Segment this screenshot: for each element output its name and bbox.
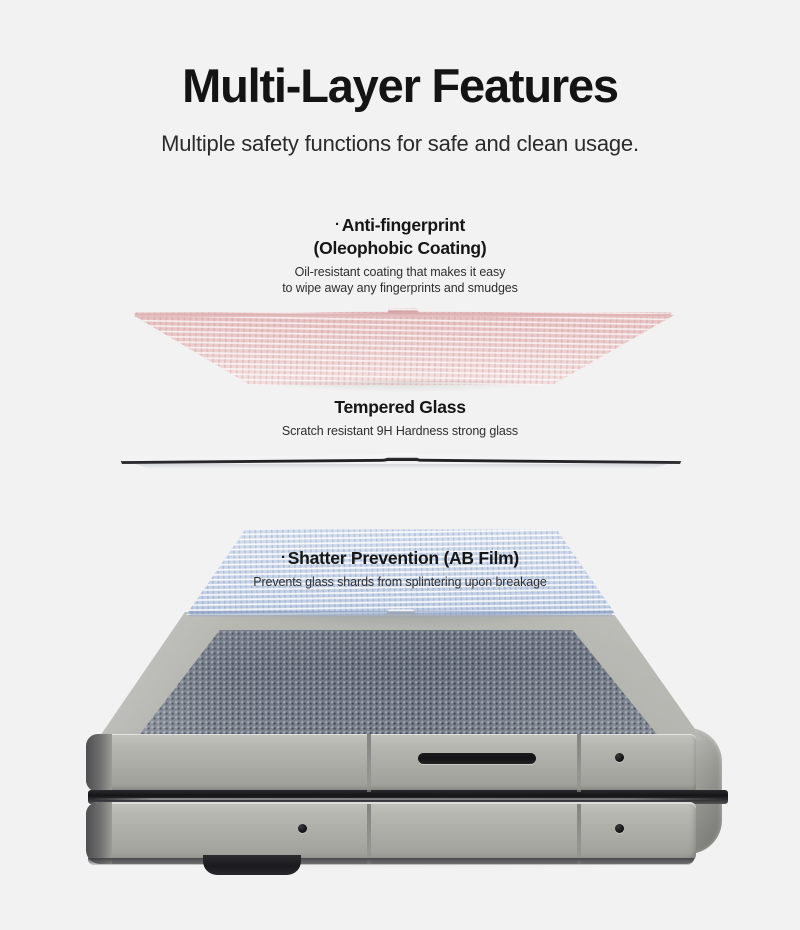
feature-desc-tempered-glass: Scratch resistant 9H Hardness strong gla… <box>0 423 800 439</box>
page-title: Multi-Layer Features <box>0 58 800 113</box>
antenna-line <box>367 804 371 864</box>
feature-title-tempered-glass: Tempered Glass <box>0 396 800 419</box>
infographic-canvas: Multi-Layer Features Multiple safety fun… <box>0 0 800 930</box>
microphone-hole <box>615 753 624 762</box>
phone-frame-upper-left-edge <box>86 734 112 792</box>
microphone-hole <box>298 824 307 833</box>
phone-bottom-nub <box>203 855 301 875</box>
layer-oleophobic-coating <box>130 307 675 385</box>
feature-title-line2: (Oleophobic Coating) <box>0 237 800 260</box>
page-subtitle: Multiple safety functions for safe and c… <box>0 131 800 157</box>
feature-label-oleophobic: ·Anti-fingerprint (Oleophobic Coating) O… <box>0 213 800 296</box>
phone-bottom-edge <box>88 858 694 865</box>
layer-tempered-glass <box>118 448 684 474</box>
bullet-icon: · <box>281 549 288 566</box>
ab-film-shadow <box>212 616 590 628</box>
feature-desc-ab-film: Prevents glass shards from splintering u… <box>0 574 800 590</box>
phone-fold-seam-highlight <box>90 798 726 800</box>
antenna-line <box>367 734 371 792</box>
antenna-line <box>577 804 581 864</box>
phone-frame-lower-left-edge <box>86 802 112 864</box>
oleophobic-shadow <box>261 381 544 392</box>
feature-desc-line1: Oil-resistant coating that makes it easy <box>0 264 800 280</box>
bullet-icon: · <box>335 216 342 233</box>
antenna-line <box>577 734 581 792</box>
phone-frame-lower-half <box>86 802 696 864</box>
feature-title-ab-film: ·Shatter Prevention (AB Film) <box>0 546 800 570</box>
foldable-phone <box>78 612 722 872</box>
phone-frame-upper-half <box>86 734 696 792</box>
feature-title-line1: Anti-fingerprint <box>342 215 465 235</box>
oleophobic-surface <box>130 307 675 385</box>
microphone-hole <box>615 824 624 833</box>
speaker-slot <box>418 753 536 764</box>
feature-title-oleophobic: ·Anti-fingerprint <box>0 213 800 237</box>
glass-underglow <box>135 464 667 469</box>
feature-title-ab-film-text: Shatter Prevention (AB Film) <box>288 548 519 568</box>
feature-label-ab-film: ·Shatter Prevention (AB Film) Prevents g… <box>0 546 800 590</box>
feature-desc-line2: to wipe away any fingerprints and smudge… <box>0 280 800 296</box>
feature-label-tempered-glass: Tempered Glass Scratch resistant 9H Hard… <box>0 396 800 439</box>
phone-top-sheen <box>78 612 722 740</box>
